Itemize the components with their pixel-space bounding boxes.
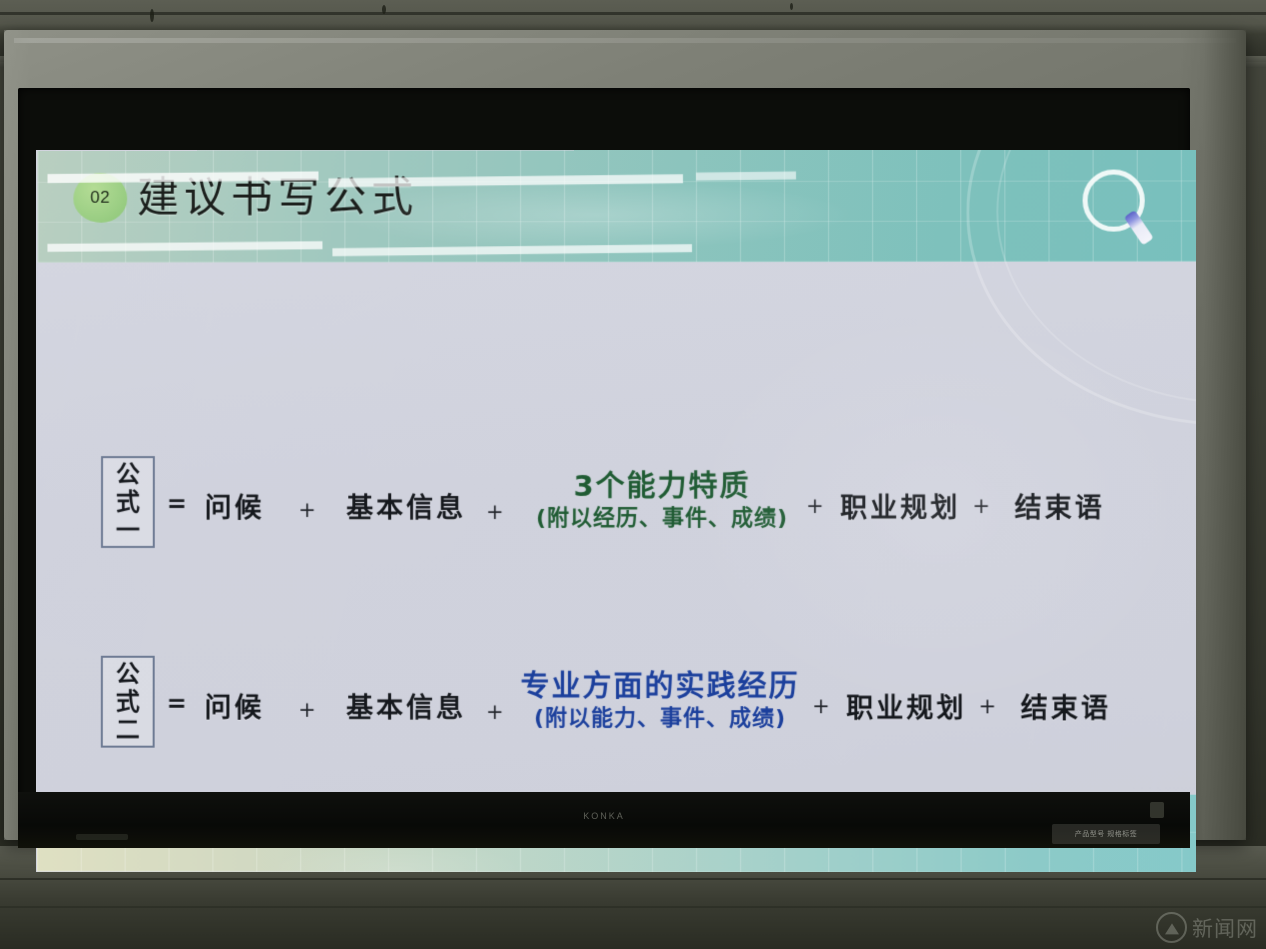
whiteboard-frame: 02 建议书写公式 公 式 一 — [4, 30, 1246, 840]
slide-perspective-wrapper: 02 建议书写公式 公 式 一 — [37, 150, 1196, 872]
formula2-plus-3: + — [812, 694, 830, 718]
formula-row-2: 公 式 二 = 问候 + 基本信息 + 专业方面的实践经历 (附以能力、 — [37, 650, 1196, 761]
formula-label-char: 一 — [116, 516, 140, 544]
section-number-label: 02 — [90, 188, 110, 208]
display-bezel: 02 建议书写公式 公 式 一 — [18, 88, 1190, 848]
bezel-foot — [76, 834, 128, 840]
formula-label-char: 二 — [116, 716, 140, 744]
formula1-term-career-plan: 职业规划 — [840, 486, 960, 525]
bezel-port — [1150, 802, 1164, 818]
wall-speck — [790, 3, 793, 10]
formula2-term-career-plan: 职业规划 — [846, 686, 966, 725]
formula1-term-basic-info: 基本信息 — [346, 486, 466, 525]
classroom-photo-scene: 02 建议书写公式 公 式 一 — [0, 0, 1266, 949]
brand-logo-label: KONKA — [583, 811, 625, 821]
formula1-plus-3: + — [806, 494, 824, 518]
magnifier-icon — [1081, 167, 1155, 251]
formula1-highlight-sub: (附以经历、事件、成绩) — [514, 504, 810, 534]
mountain-circle-logo-icon — [1156, 912, 1187, 943]
formula-label-char: 公 — [116, 460, 140, 488]
formula-label-char: 公 — [116, 660, 140, 688]
frame-top-highlight — [14, 38, 1236, 43]
formula2-plus-2: + — [486, 700, 504, 724]
wall-speck — [382, 5, 386, 14]
formula-label-box-1: 公 式 一 — [101, 456, 155, 548]
wall-seam-line — [0, 12, 1266, 15]
equals-sign-2: = — [167, 690, 187, 718]
formula-label-char: 式 — [116, 688, 140, 716]
formula1-highlight-main: 3个能力特质 — [514, 468, 810, 504]
formula2-highlight: 专业方面的实践经历 (附以能力、事件、成绩) — [506, 668, 814, 734]
formula2-highlight-sub: (附以能力、事件、成绩) — [506, 704, 814, 734]
formula1-plus-2: + — [486, 500, 504, 524]
slide-title: 建议书写公式 — [137, 168, 418, 226]
formula1-term-closing: 结束语 — [1015, 486, 1105, 525]
ledge-edge-line — [0, 906, 1266, 908]
formula1-plus-1: + — [298, 498, 316, 522]
formula-label-box-2: 公 式 二 — [101, 656, 155, 748]
formula-row-1: 公 式 一 = 问候 + 基本信息 + 3个能力特质 (附以经历、事件、 — [37, 450, 1196, 560]
presentation-slide: 02 建议书写公式 公 式 一 — [36, 150, 1196, 872]
formula2-term-greeting: 问候 — [205, 686, 265, 725]
slide-canvas: 02 建议书写公式 公 式 一 — [37, 150, 1196, 872]
formula2-highlight-main: 专业方面的实践经历 — [506, 668, 814, 704]
watermark-text: 新闻网 — [1192, 913, 1258, 943]
formula2-term-closing: 结束语 — [1021, 686, 1111, 725]
formula2-plus-1: + — [298, 698, 316, 722]
watermark: 新闻网 — [1156, 912, 1258, 943]
formula1-highlight: 3个能力特质 (附以经历、事件、成绩) — [514, 468, 810, 534]
ledge-edge-line — [0, 878, 1266, 880]
formula2-plus-4: + — [979, 694, 997, 718]
formula2-term-basic-info: 基本信息 — [346, 686, 466, 725]
section-number-badge: 02 — [73, 173, 127, 223]
equals-sign-1: = — [167, 490, 187, 518]
formula1-term-greeting: 问候 — [205, 486, 265, 525]
formula1-plus-4: + — [972, 494, 990, 518]
wall-speck — [150, 9, 154, 22]
device-spec-label: 产品型号 规格标签 — [1052, 824, 1160, 844]
formula-label-char: 式 — [116, 488, 140, 516]
